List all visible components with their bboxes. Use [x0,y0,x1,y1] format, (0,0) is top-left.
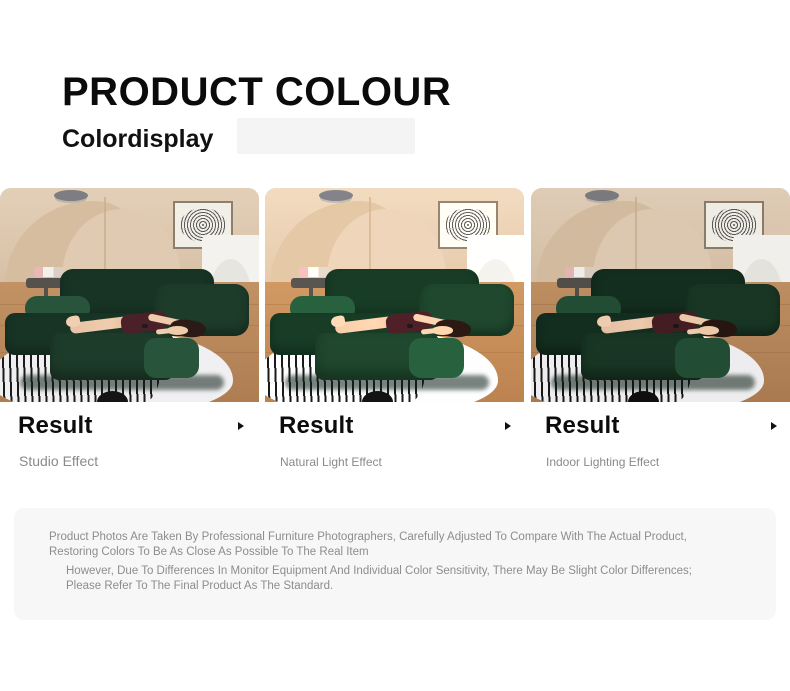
effect-label: Studio Effect [19,454,98,468]
triangle-right-icon[interactable] [505,422,511,430]
result-card-studio[interactable]: Result Studio Effect [0,188,259,484]
person-model [335,306,474,348]
subtitle-ghost-block [237,118,415,154]
room-scene [265,188,524,402]
page-header: PRODUCT COLOUR Colordisplay [0,0,790,180]
colour-disclaimer-panel: Product Photos Are Taken By Professional… [14,508,776,620]
effect-label: Indoor Lighting Effect [546,456,659,468]
product-photo-natural-light[interactable] [265,188,524,402]
person-face [698,326,719,334]
result-cards-row: Result Studio Effect [0,188,790,488]
person-watch [142,324,148,328]
disclaimer-p2-line1: However, Due To Differences In Monitor E… [66,564,756,579]
result-label: Result [279,414,354,438]
result-card-indoor-lighting[interactable]: Result Indoor Lighting Effect [531,188,790,484]
person-face [167,326,188,334]
result-label: Result [18,414,93,438]
sectional-sofa [536,274,785,398]
effect-label: Natural Light Effect [280,456,382,468]
product-photo-studio[interactable] [0,188,259,402]
result-card-natural-light[interactable]: Result Natural Light Effect [265,188,524,484]
product-photo-indoor-lighting[interactable] [531,188,790,402]
page-subtitle-wrap: Colordisplay [62,122,213,156]
page-subtitle: Colordisplay [62,122,213,156]
product-colour-page: PRODUCT COLOUR Colordisplay [0,0,790,691]
person-model [601,306,740,348]
sectional-sofa [270,274,519,398]
disclaimer-p1-line1: Product Photos Are Taken By Professional… [49,530,749,545]
result-label: Result [545,414,620,438]
disclaimer-p2-line2: Please Refer To The Final Product As The… [66,579,756,594]
page-title: PRODUCT COLOUR [62,72,451,112]
disclaimer-paragraph-2: However, Due To Differences In Monitor E… [66,564,756,594]
disclaimer-paragraph-1: Product Photos Are Taken By Professional… [49,530,749,560]
card-caption: Result Natural Light Effect [265,402,524,484]
triangle-right-icon[interactable] [771,422,777,430]
card-caption: Result Studio Effect [0,402,259,484]
person-model [70,306,209,348]
person-watch [407,324,413,328]
card-caption: Result Indoor Lighting Effect [531,402,790,484]
room-scene [0,188,259,402]
disclaimer-p1-line2: Restoring Colors To Be As Close As Possi… [49,545,749,560]
room-scene [531,188,790,402]
triangle-right-icon[interactable] [238,422,244,430]
person-face [432,326,453,334]
sectional-sofa [5,274,254,398]
person-watch [673,324,679,328]
